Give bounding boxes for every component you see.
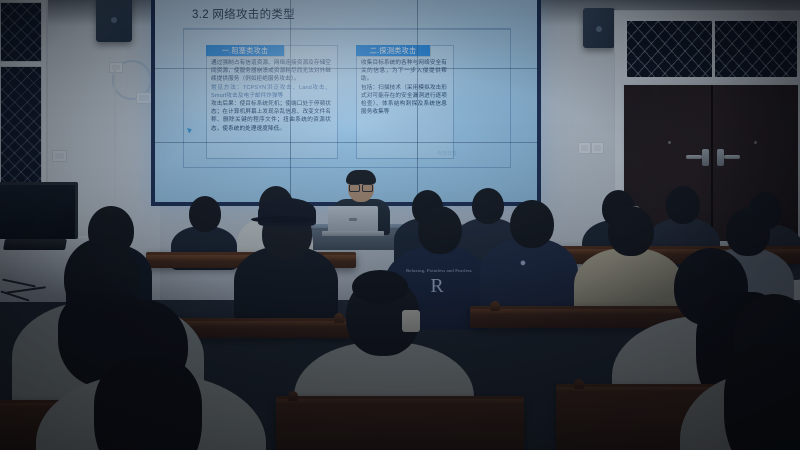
wall-speaker-right — [583, 8, 615, 48]
left-para-1: 通过强制占有信道资源、网络连接资源及存储空间资源，使服务器崩溃或资源耗尽而无法对… — [211, 59, 331, 84]
cable-bundle — [0, 276, 58, 302]
slide-watermark: 今日日签 — [437, 150, 457, 157]
bezel-seam-h1 — [155, 68, 537, 69]
table-header-right: 二.探测类攻击 — [356, 45, 430, 56]
bezel-seam-h2 — [155, 142, 537, 143]
baseball-cap — [258, 198, 316, 226]
wall-plate-right-a — [578, 142, 591, 154]
wall-switch — [109, 62, 123, 73]
shirt-text-letter: R — [422, 276, 452, 296]
classroom-photo: 3.2 网络攻击的类型 一.阻塞类攻击 二.探测类攻击 通过强制占有信道资源、网… — [0, 0, 800, 450]
glasses-icon — [349, 184, 373, 190]
wall-speaker-left — [96, 0, 132, 42]
right-para-2: 包括：扫描技术（采用模拟攻击形式对可能存在的安全漏洞进行逐项检查）、体系结构刺探… — [361, 84, 447, 117]
table-header-left: 一.阻塞类攻击 — [206, 45, 284, 56]
left-column-body: 通过强制占有信道资源、网络连接资源及存储空间资源，使服务器崩溃或资源耗尽而无法对… — [211, 59, 331, 133]
left-para-2: 常见方法：TCPSYN洪泛攻击、Land攻击、Smurf攻击及电子邮件炸弹等 — [211, 84, 331, 100]
wall-plate-upper — [136, 92, 152, 104]
shirt-bear-icon: ● — [506, 258, 540, 269]
wall-outlet-left — [52, 150, 67, 162]
side-desk-keyboard[interactable] — [3, 239, 67, 250]
slide-title: 3.2 网络攻击的类型 — [192, 6, 295, 22]
presenter-laptop-base — [322, 231, 384, 236]
bench-row1-mid[interactable] — [276, 396, 524, 450]
side-desk-monitor — [0, 182, 78, 239]
wall-plate-right-b — [591, 142, 604, 154]
slide-table: 一.阻塞类攻击 二.探测类攻击 通过强制占有信道资源、网络连接资源及存储空间资源… — [183, 28, 511, 168]
presenter-laptop-screen[interactable] — [328, 206, 378, 232]
transom-window — [624, 18, 800, 80]
shirt-text-line: Relaxing, Pointless and Fearless — [404, 268, 474, 273]
bezel-seam-v2 — [417, 0, 418, 202]
left-para-3: 攻击后果：使目标系统死机；使端口处于停顿状态；在计算机屏幕上发现杂乱信息、改变文… — [211, 100, 331, 133]
bezel-seam-v1 — [290, 0, 291, 202]
barred-window — [0, 0, 48, 198]
hair-clip — [402, 310, 420, 332]
right-para-1: 收集目标系统的各种与网络安全有关的信息，为下一步入侵提供帮助。 — [361, 59, 447, 84]
